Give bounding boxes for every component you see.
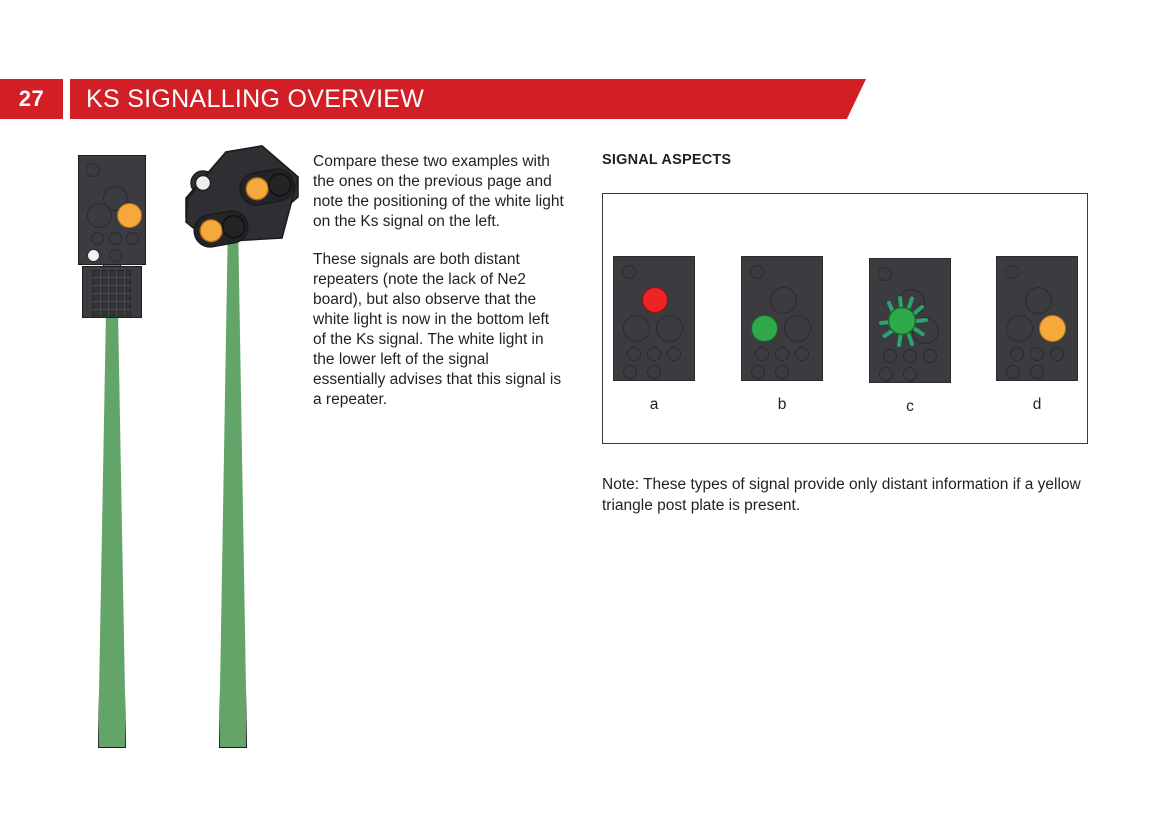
aspect-label-b: b xyxy=(741,397,823,413)
description-paragraph-1: Compare these two examples with the ones… xyxy=(313,152,565,232)
white-repeater-lamp xyxy=(196,176,211,191)
lamp-row3-right xyxy=(667,347,681,361)
lamp-row3-left xyxy=(627,347,641,361)
lamp-row3-centre xyxy=(903,349,917,363)
lamp-middle-left-green xyxy=(751,315,778,342)
lamp-bottom-left xyxy=(623,365,637,379)
lamp-row3-left xyxy=(755,347,769,361)
description-paragraph-2: These signals are both distant repeaters… xyxy=(313,250,565,410)
signal-aspects-heading: SIGNAL ASPECTS xyxy=(602,152,1092,168)
page-title-bar: KS SIGNALLING OVERVIEW xyxy=(70,79,866,119)
lamp-top-left xyxy=(878,267,892,281)
lamp-middle-right xyxy=(912,317,939,344)
lamp-upper-centre xyxy=(1025,287,1052,314)
lamp-middle-right xyxy=(656,315,683,342)
lamp-upper-centre xyxy=(770,287,797,314)
aspect-item-c: c xyxy=(869,258,951,415)
signal-aspects-column: SIGNAL ASPECTS a xyxy=(602,152,1092,516)
aspect-panel-b xyxy=(741,256,823,381)
lamp-upper-centre-red xyxy=(642,287,668,313)
aspect-panel-d xyxy=(996,256,1078,381)
lamp-middle-right xyxy=(784,315,811,342)
aspect-label-d: d xyxy=(996,397,1078,413)
page-header: 27 KS SIGNALLING OVERVIEW xyxy=(0,79,866,119)
lamp-bottom-centre xyxy=(903,367,917,381)
lamp-top-left xyxy=(622,265,636,279)
lamp-row3-left xyxy=(1010,347,1024,361)
lamp-top-left xyxy=(1005,265,1019,279)
signal-aspects-box: a b xyxy=(602,193,1088,444)
lamp-bottom-left xyxy=(751,365,765,379)
aspect-item-a: a xyxy=(613,256,695,413)
aspects-note: Note: These types of signal provide only… xyxy=(602,474,1082,516)
aspect-label-c: c xyxy=(869,399,951,415)
lamp-row3-centre xyxy=(647,347,661,361)
aspect-panel-c xyxy=(869,258,951,383)
page-number: 27 xyxy=(19,88,44,110)
lamp-middle-left xyxy=(623,315,650,342)
lamp-row3-right xyxy=(795,347,809,361)
lamp-bottom-centre xyxy=(775,365,789,379)
lamp-row3-right xyxy=(1050,347,1064,361)
signal-illustrations xyxy=(0,130,300,770)
lamp-bottom-left xyxy=(879,367,893,381)
description-text-column: Compare these two examples with the ones… xyxy=(313,152,565,428)
lamp-bottom-centre xyxy=(647,365,661,379)
lamp-bottom-left xyxy=(1006,365,1020,379)
lamp-top-left xyxy=(750,265,764,279)
aspect-label-a: a xyxy=(613,397,695,413)
aspect-panel-a xyxy=(613,256,695,381)
lamp-middle-left xyxy=(1006,315,1033,342)
lamp-bottom-centre xyxy=(1030,365,1044,379)
page-number-badge: 27 xyxy=(0,79,63,119)
lamp-row3-centre xyxy=(1030,347,1044,361)
page-title: KS SIGNALLING OVERVIEW xyxy=(86,87,424,112)
lamp-upper-centre xyxy=(898,289,925,316)
aspect-item-d: d xyxy=(996,256,1078,413)
lamp-row3-centre xyxy=(775,347,789,361)
lamp-row3-left xyxy=(883,349,897,363)
lamp-row3-right xyxy=(923,349,937,363)
angled-signal-head xyxy=(0,130,300,770)
aspect-item-b: b xyxy=(741,256,823,413)
lamp-middle-right-amber xyxy=(1039,315,1066,342)
